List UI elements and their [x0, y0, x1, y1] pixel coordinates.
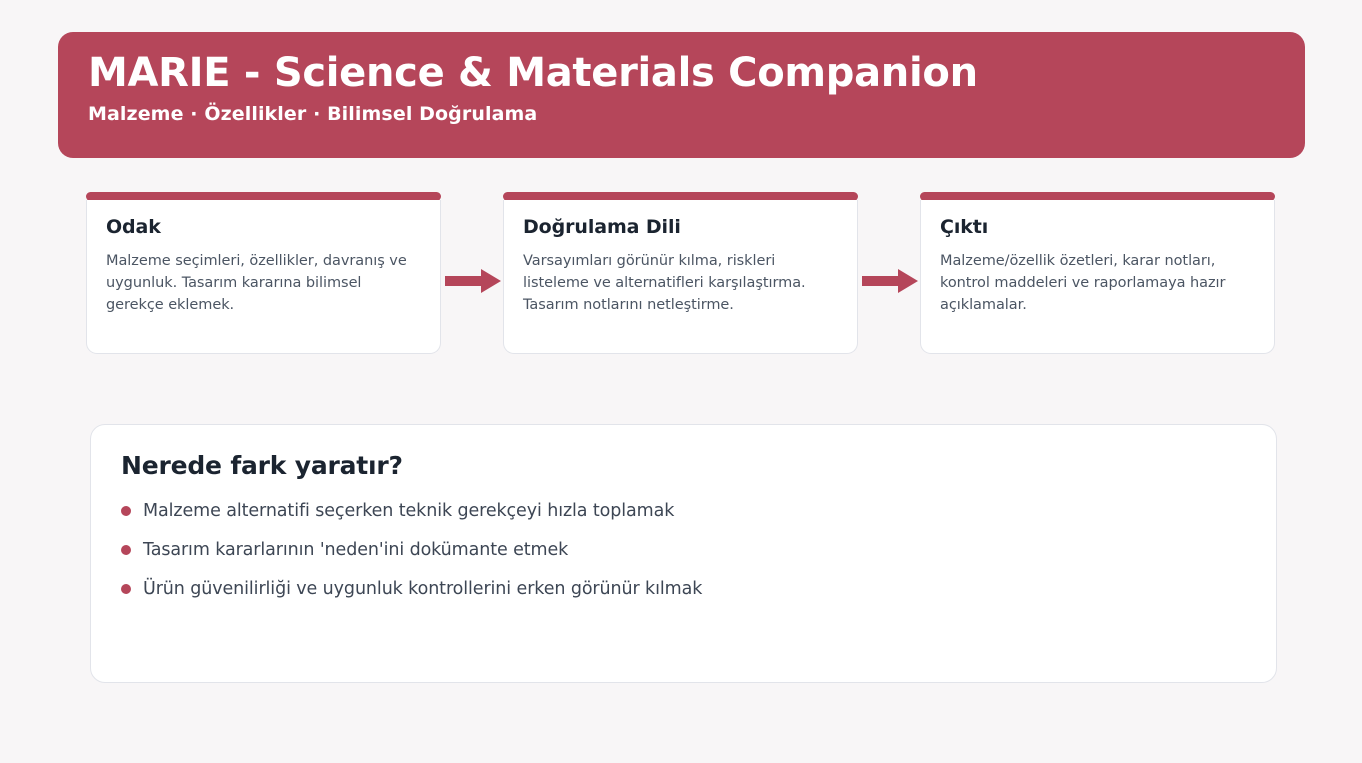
card-description: Varsayımları görünür kılma, riskleri lis… [523, 250, 838, 316]
flow-cards-row: Odak Malzeme seçimleri, özellikler, davr… [86, 192, 1276, 357]
flow-card-cikti: Çıktı Malzeme/özellik özetleri, karar no… [920, 192, 1275, 354]
benefits-list: Malzeme alternatifi seçerken teknik gere… [121, 500, 1246, 600]
card-body: Çıktı Malzeme/özellik özetleri, karar no… [920, 200, 1275, 354]
flow-card-odak: Odak Malzeme seçimleri, özellikler, davr… [86, 192, 441, 354]
arrow-right-icon [862, 268, 918, 294]
bullet-dot-icon [121, 584, 131, 594]
card-title: Çıktı [940, 216, 1255, 239]
card-body: Odak Malzeme seçimleri, özellikler, davr… [86, 200, 441, 354]
card-body: Doğrulama Dili Varsayımları görünür kılm… [503, 200, 858, 354]
header-banner: MARIE - Science & Materials Companion Ma… [58, 32, 1305, 158]
page-subtitle: Malzeme · Özellikler · Bilimsel Doğrulam… [88, 103, 1275, 125]
list-item: Tasarım kararlarının 'neden'ini dokümant… [121, 539, 1246, 562]
list-item-label: Malzeme alternatifi seçerken teknik gere… [143, 500, 674, 523]
card-description: Malzeme seçimleri, özellikler, davranış … [106, 250, 421, 316]
bullet-dot-icon [121, 506, 131, 516]
arrow-right-icon [445, 268, 501, 294]
bullet-dot-icon [121, 545, 131, 555]
list-item: Malzeme alternatifi seçerken teknik gere… [121, 500, 1246, 523]
slide-canvas: MARIE - Science & Materials Companion Ma… [0, 0, 1362, 763]
card-description: Malzeme/özellik özetleri, karar notları,… [940, 250, 1255, 316]
list-item-label: Tasarım kararlarının 'neden'ini dokümant… [143, 539, 568, 562]
list-item: Ürün güvenilirliği ve uygunluk kontrolle… [121, 578, 1246, 601]
card-title: Odak [106, 216, 421, 239]
card-title: Doğrulama Dili [523, 216, 838, 239]
panel-heading: Nerede fark yaratır? [121, 451, 1246, 481]
flow-card-dogrulama-dili: Doğrulama Dili Varsayımları görünür kılm… [503, 192, 858, 354]
page-title: MARIE - Science & Materials Companion [88, 50, 1275, 97]
list-item-label: Ürün güvenilirliği ve uygunluk kontrolle… [143, 578, 702, 601]
highlight-panel: Nerede fark yaratır? Malzeme alternatifi… [90, 424, 1277, 683]
